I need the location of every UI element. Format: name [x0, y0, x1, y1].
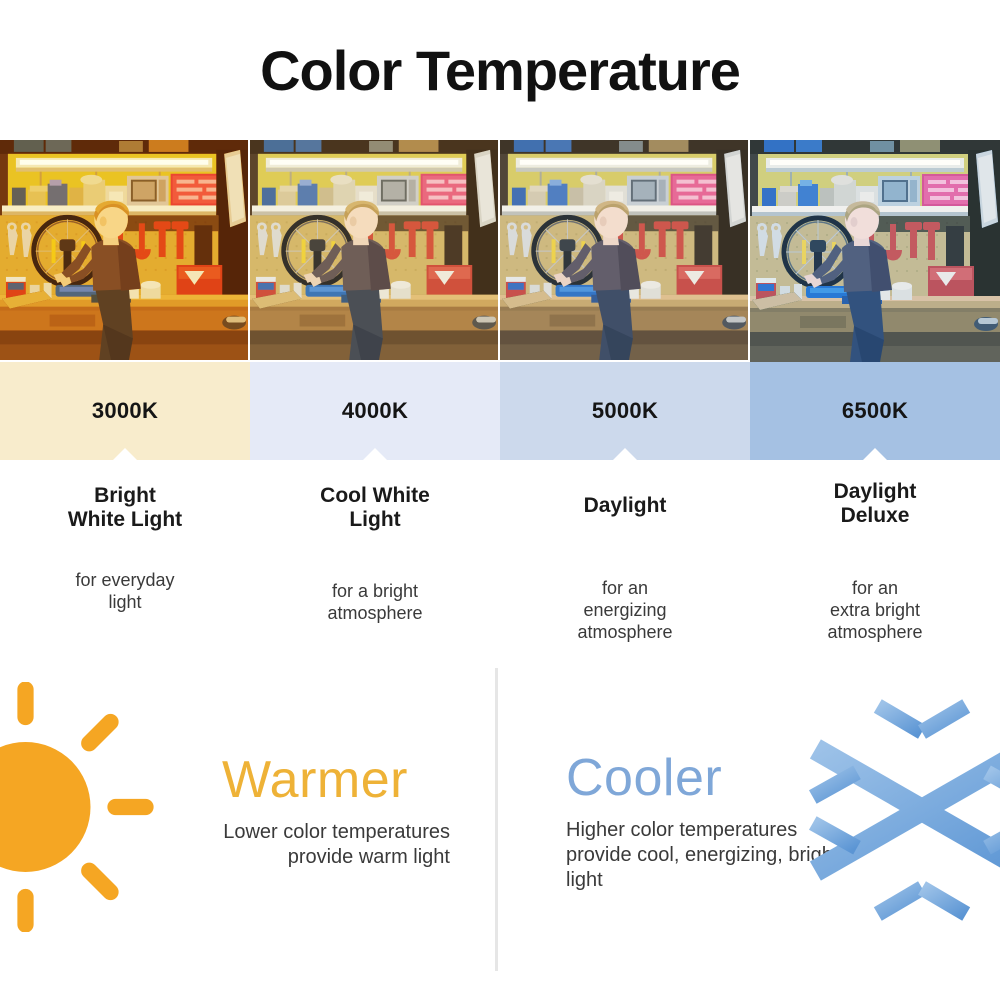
photo-panel-6500k — [750, 140, 1000, 362]
light-name-3000k-line2: White Light — [68, 508, 182, 531]
kelvin-label-6500k: 6500K — [842, 398, 908, 424]
light-desc-5000k-line2: energizing — [583, 600, 666, 620]
cooler-heading: Cooler — [566, 748, 722, 808]
kelvin-band-6500k: 6500K — [750, 362, 1000, 460]
kelvin-label-4000k: 4000K — [342, 398, 408, 424]
light-desc-4000k: for a bright atmosphere — [327, 581, 422, 625]
light-name-5000k-line1: Daylight — [584, 494, 667, 517]
snowflake-icon — [792, 680, 1000, 940]
light-desc-6500k-line1: for an — [852, 578, 898, 598]
light-desc-4000k-line1: for a bright — [332, 581, 418, 601]
light-desc-5000k-line1: for an — [602, 578, 648, 598]
description-col-3000k: Bright White Light for everyday light — [0, 470, 250, 650]
description-row: Bright White Light for everyday light Co… — [0, 470, 1000, 650]
light-name-4000k-line1: Cool White — [320, 484, 430, 507]
light-name-3000k: Bright White Light — [68, 484, 182, 533]
description-col-6500k: Daylight Deluxe for an extra bright atmo… — [750, 470, 1000, 650]
page-title: Color Temperature — [260, 38, 740, 103]
light-desc-6500k: for an extra bright atmosphere — [827, 578, 922, 644]
light-desc-3000k: for everyday light — [75, 570, 174, 614]
warmer-body: Lower color temperatures provide warm li… — [160, 820, 450, 870]
description-col-5000k: Daylight for an energizing atmosphere — [500, 470, 750, 650]
notch-pointer-3000k — [112, 448, 138, 461]
photo-panel-4000k — [250, 140, 500, 362]
description-col-4000k: Cool White Light for a bright atmosphere — [250, 470, 500, 650]
photo-comparison-strip — [0, 140, 1000, 362]
kelvin-band-4000k: 4000K — [250, 362, 500, 460]
warm-cool-section: Warmer Lower color temperatures provide … — [0, 660, 1000, 1000]
light-name-4000k: Cool White Light — [320, 484, 430, 533]
light-desc-6500k-line3: atmosphere — [827, 622, 922, 642]
kelvin-band-3000k: 3000K — [0, 362, 250, 460]
workshop-scene-3000k — [0, 140, 248, 360]
light-name-5000k: Daylight — [584, 494, 667, 518]
sun-icon — [0, 682, 178, 932]
kelvin-label-5000k: 5000K — [592, 398, 658, 424]
photo-panel-5000k — [500, 140, 750, 362]
light-name-3000k-line1: Bright — [94, 484, 156, 507]
notch-pointer-6500k — [862, 448, 888, 461]
workshop-scene-4000k — [250, 140, 498, 360]
light-desc-5000k: for an energizing atmosphere — [577, 578, 672, 644]
kelvin-label-3000k: 3000K — [92, 398, 158, 424]
light-desc-5000k-line3: atmosphere — [577, 622, 672, 642]
light-name-4000k-line2: Light — [349, 508, 400, 531]
light-name-6500k: Daylight Deluxe — [834, 480, 917, 529]
kelvin-band-5000k: 5000K — [500, 362, 750, 460]
cooler-half: Cooler Higher color temperatures provide… — [498, 660, 1000, 1000]
light-name-6500k-line2: Deluxe — [841, 504, 910, 527]
light-desc-4000k-line2: atmosphere — [327, 603, 422, 623]
warmer-half: Warmer Lower color temperatures provide … — [0, 660, 495, 1000]
workshop-scene-5000k — [500, 140, 748, 360]
kelvin-band-row: 3000K 4000K 5000K 6500K — [0, 362, 1000, 460]
warmer-heading: Warmer — [222, 750, 408, 810]
notch-pointer-5000k — [612, 448, 638, 461]
light-desc-3000k-line1: for everyday — [75, 570, 174, 590]
photo-panel-3000k — [0, 140, 250, 362]
light-name-6500k-line1: Daylight — [834, 480, 917, 503]
light-desc-6500k-line2: extra bright — [830, 600, 920, 620]
header: Color Temperature — [0, 0, 1000, 140]
light-desc-3000k-line2: light — [108, 592, 141, 612]
workshop-scene-6500k — [750, 140, 1000, 362]
notch-pointer-4000k — [362, 448, 388, 461]
